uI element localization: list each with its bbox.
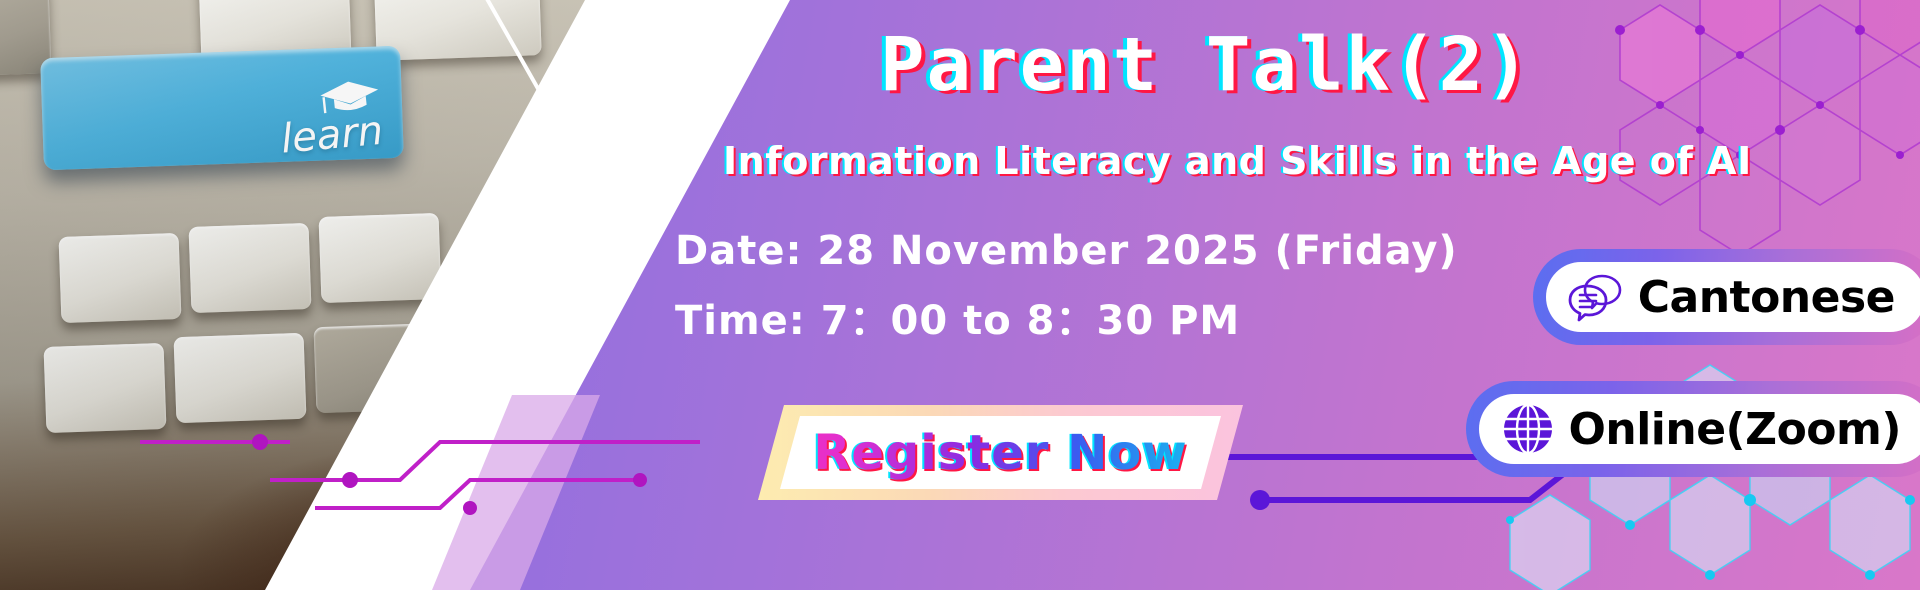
register-button[interactable]: Register Now xyxy=(758,405,1243,500)
register-button-label: Register Now xyxy=(758,405,1243,500)
badge-cantonese[interactable]: Cantonese xyxy=(1533,249,1920,345)
outline-triangle-decoration xyxy=(470,0,650,140)
speech-bubbles-icon xyxy=(1568,272,1624,322)
event-time: Time: 7：00 to 8：30 PM xyxy=(675,288,1240,346)
badge-online-label: Online(Zoom) xyxy=(1569,404,1902,455)
event-date: Date: 28 November 2025 (Friday) xyxy=(675,228,1458,274)
page-title: Parent Talk(2) xyxy=(880,22,1532,108)
event-banner: learn Parent xyxy=(0,0,1920,590)
page-subtitle: Information Literacy and Skills in the A… xyxy=(723,139,1752,183)
badge-cantonese-label: Cantonese xyxy=(1638,272,1895,323)
circuit-lines-left xyxy=(140,420,700,530)
badge-online[interactable]: Online(Zoom) xyxy=(1466,381,1920,477)
globe-icon xyxy=(1501,402,1555,456)
